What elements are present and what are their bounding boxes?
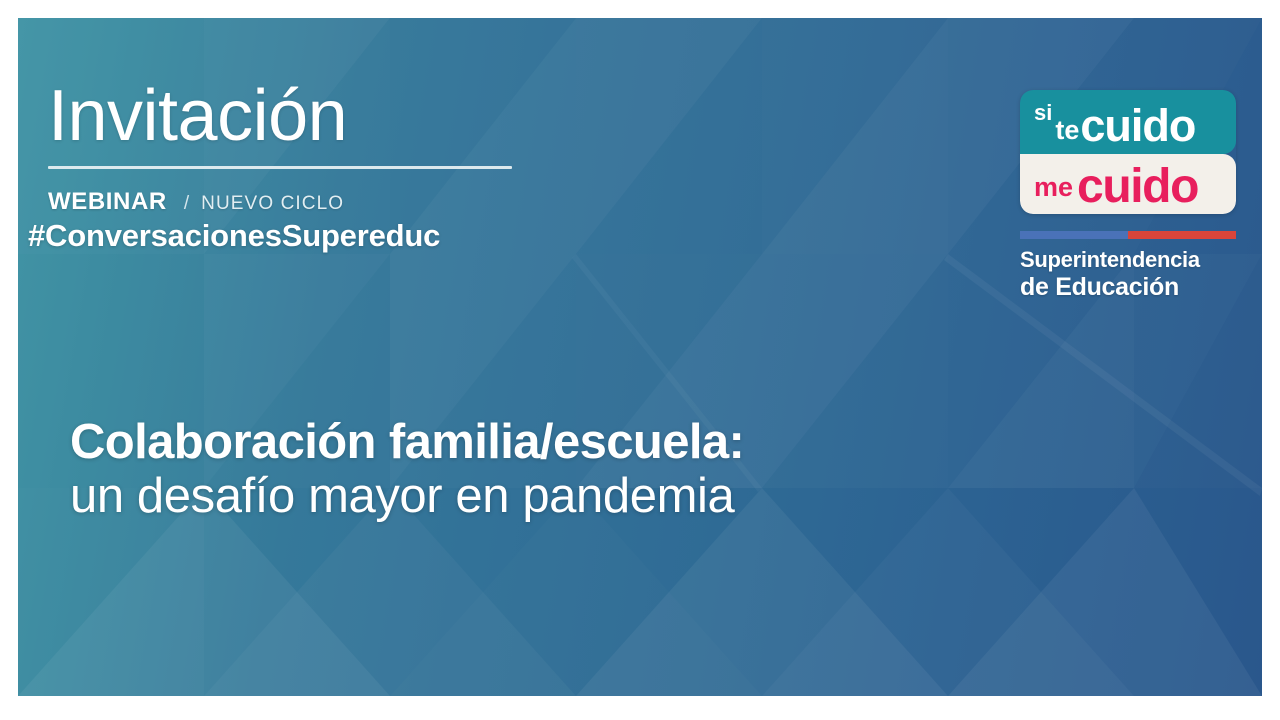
badge-cuido-bottom-text: cuido [1077, 166, 1198, 207]
webinar-title-block: Colaboración familia/escuela: un desafío… [70, 416, 970, 525]
flag-bar-red [1128, 231, 1236, 239]
kicker-row: WEBINAR / NUEVO CICLO [48, 188, 688, 216]
badge-cuido-top-text: cuido [1080, 107, 1195, 146]
organization-name-line-2: de Educación [1020, 273, 1242, 301]
badge-top-row: si te cuido [1020, 90, 1236, 154]
organization-name: Superintendencia de Educación [1020, 248, 1242, 301]
badge-me-text: me [1034, 174, 1073, 201]
headline-block: Invitación WEBINAR / NUEVO CICLO #Conver… [48, 80, 688, 254]
si-te-cuido-me-cuido-badge: si te cuido me cuido [1020, 90, 1236, 214]
kicker-separator: / [167, 193, 201, 215]
badge-bottom-row: me cuido [1020, 154, 1236, 214]
page-title: Invitación [48, 80, 688, 153]
kicker-cycle-label: NUEVO CICLO [201, 193, 344, 215]
title-divider [48, 166, 512, 169]
hashtag-label: #ConversacionesSupereduc [28, 218, 688, 254]
flag-bar-blue [1020, 231, 1128, 239]
chile-flag-bars-icon [1020, 231, 1236, 239]
badge-te-text: te [1055, 117, 1079, 144]
logo-lockup: si te cuido me cuido Superintendencia de… [1020, 90, 1252, 301]
organization-name-line-1: Superintendencia [1020, 248, 1242, 273]
webinar-title-line-2: un desafío mayor en pandemia [70, 469, 970, 525]
webinar-invitation-banner: Invitación WEBINAR / NUEVO CICLO #Conver… [18, 18, 1262, 696]
webinar-title-line-1: Colaboración familia/escuela: [70, 416, 970, 469]
kicker-webinar-label: WEBINAR [48, 188, 167, 216]
badge-si-text: si [1034, 102, 1052, 124]
